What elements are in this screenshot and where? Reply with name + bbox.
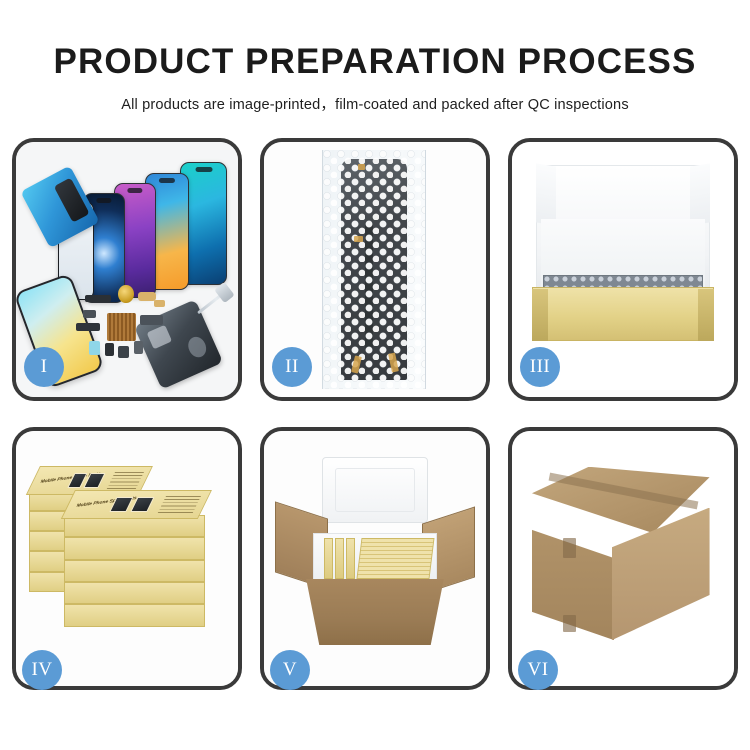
tape-icon — [354, 236, 362, 242]
retail-box-stack: Mobile Phone Spare Parts Mobile Phone Sp… — [29, 462, 224, 666]
tape-icon — [358, 164, 365, 170]
box-flap-left-icon — [536, 163, 556, 225]
phone-back-housing-icon — [134, 300, 223, 390]
carton-body-icon — [302, 579, 449, 645]
photo-stacked-retail-boxes: Mobile Phone Spare Parts Mobile Phone Sp… — [16, 431, 238, 686]
box-spec-text-lines — [158, 496, 202, 514]
small-part-icon — [134, 341, 143, 354]
connector-part-icon — [154, 300, 165, 307]
flex-cable-part-icon — [85, 295, 112, 302]
small-part-icon — [83, 310, 96, 318]
notch-icon — [195, 167, 212, 172]
box-spec-text-lines — [107, 471, 144, 489]
retail-box-icon — [64, 560, 205, 582]
small-part-icon — [118, 346, 129, 358]
page-title: PRODUCT PREPARATION PROCESS — [0, 44, 750, 81]
retail-box-icon — [64, 582, 205, 604]
retail-box-icon — [346, 538, 355, 579]
process-step-panel-6: VI — [508, 427, 738, 690]
step-badge-4: IV — [22, 650, 62, 690]
camera-module-icon — [89, 341, 100, 355]
carton-right-face-icon — [612, 508, 710, 641]
screw-set-icon — [107, 313, 136, 341]
process-step-panel-4: Mobile Phone Spare Parts Mobile Phone Sp… — [12, 427, 242, 690]
flex-cable-part-icon — [140, 315, 162, 324]
small-part-icon — [105, 343, 114, 356]
retail-box-icon — [64, 537, 205, 559]
notch-icon — [127, 188, 142, 193]
screwdriver-icon — [197, 289, 229, 315]
photo-sealed-shipping-carton — [512, 431, 734, 686]
step-badge-5: V — [270, 650, 310, 690]
step-badge-1: I — [24, 347, 64, 387]
photo-carton-with-foam-insert — [264, 431, 486, 686]
bubble-texture-highlight — [323, 150, 425, 390]
retail-box-icon — [335, 538, 344, 579]
product-preparation-infographic: PRODUCT PREPARATION PROCESS All products… — [0, 0, 750, 750]
carton-tab-icon — [563, 615, 576, 633]
retail-box-icon — [64, 604, 205, 626]
notch-icon — [96, 198, 111, 203]
carton-tab-icon — [563, 538, 576, 558]
process-step-panel-3: III — [508, 138, 738, 401]
process-step-panel-1: I — [12, 138, 242, 401]
process-step-panel-2: II — [260, 138, 490, 401]
bubble-wrap-bag — [322, 150, 426, 390]
header: PRODUCT PREPARATION PROCESS All products… — [0, 0, 750, 114]
retail-box-icon — [324, 538, 333, 579]
kraft-box-body-icon — [532, 287, 714, 341]
step-badge-3: III — [520, 347, 560, 387]
process-steps-grid: I II — [12, 138, 738, 690]
foam-lid-icon — [322, 457, 429, 523]
step-badge-2: II — [272, 347, 312, 387]
speaker-part-icon — [118, 285, 134, 303]
retail-box-group-icon — [357, 538, 435, 579]
process-step-panel-5: V — [260, 427, 490, 690]
page-subtitle: All products are image-printed，film-coat… — [0, 93, 750, 114]
retail-box-printed-lid: Mobile Phone Spare Parts — [61, 490, 212, 519]
step-badge-6: VI — [518, 650, 558, 690]
notch-icon — [159, 178, 175, 183]
flex-cable-part-icon — [76, 323, 100, 331]
box-flap-right-icon — [690, 163, 710, 225]
connector-part-icon — [138, 292, 156, 301]
